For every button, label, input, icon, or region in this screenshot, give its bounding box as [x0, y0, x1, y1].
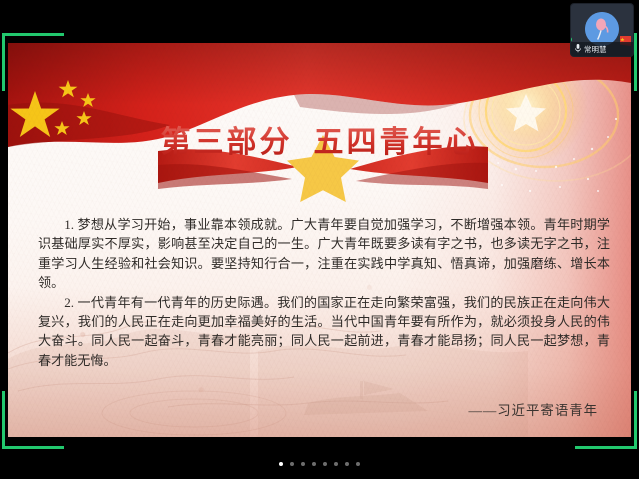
- slide-pagination[interactable]: [0, 462, 639, 466]
- microphone-icon[interactable]: [574, 40, 582, 56]
- pagination-dot[interactable]: [334, 462, 338, 466]
- participant-name: 常明慧: [584, 45, 607, 54]
- pagination-dot[interactable]: [301, 462, 305, 466]
- pagination-dot[interactable]: [345, 462, 349, 466]
- presentation-viewer: 第三部分 五四青年心 1. 梦想从学习开始，事业靠本领成就。广大青年要自觉加强学…: [0, 0, 639, 479]
- pagination-dot[interactable]: [323, 462, 327, 466]
- pagination-dot[interactable]: [312, 462, 316, 466]
- participant-video-tile[interactable]: 常明慧: [571, 4, 633, 56]
- slide-title: 第三部分 五四青年心: [8, 117, 631, 161]
- slide-canvas[interactable]: 第三部分 五四青年心 1. 梦想从学习开始，事业靠本领成就。广大青年要自觉加强学…: [8, 43, 631, 437]
- pagination-dot[interactable]: [290, 462, 294, 466]
- paragraph-1: 1. 梦想从学习开始，事业靠本领成就。广大青年要自觉加强学习，不断增强本领。青年…: [38, 215, 610, 293]
- avatar-balloon-icon: [585, 12, 619, 46]
- online-status-dot: [571, 37, 572, 42]
- participant-name-bar: 常明慧: [571, 42, 633, 56]
- slide-body-text: 1. 梦想从学习开始，事业靠本领成就。广大青年要自觉加强学习，不断增强本领。青年…: [38, 215, 610, 370]
- pagination-dot[interactable]: [279, 462, 283, 466]
- pagination-dot[interactable]: [356, 462, 360, 466]
- avatar: [585, 12, 619, 46]
- paragraph-2: 2. 一代青年有一代青年的历史际遇。我们的国家正在走向繁荣富强，我们的民族正在走…: [38, 293, 610, 371]
- slide-attribution: ——习近平寄语青年: [38, 399, 610, 419]
